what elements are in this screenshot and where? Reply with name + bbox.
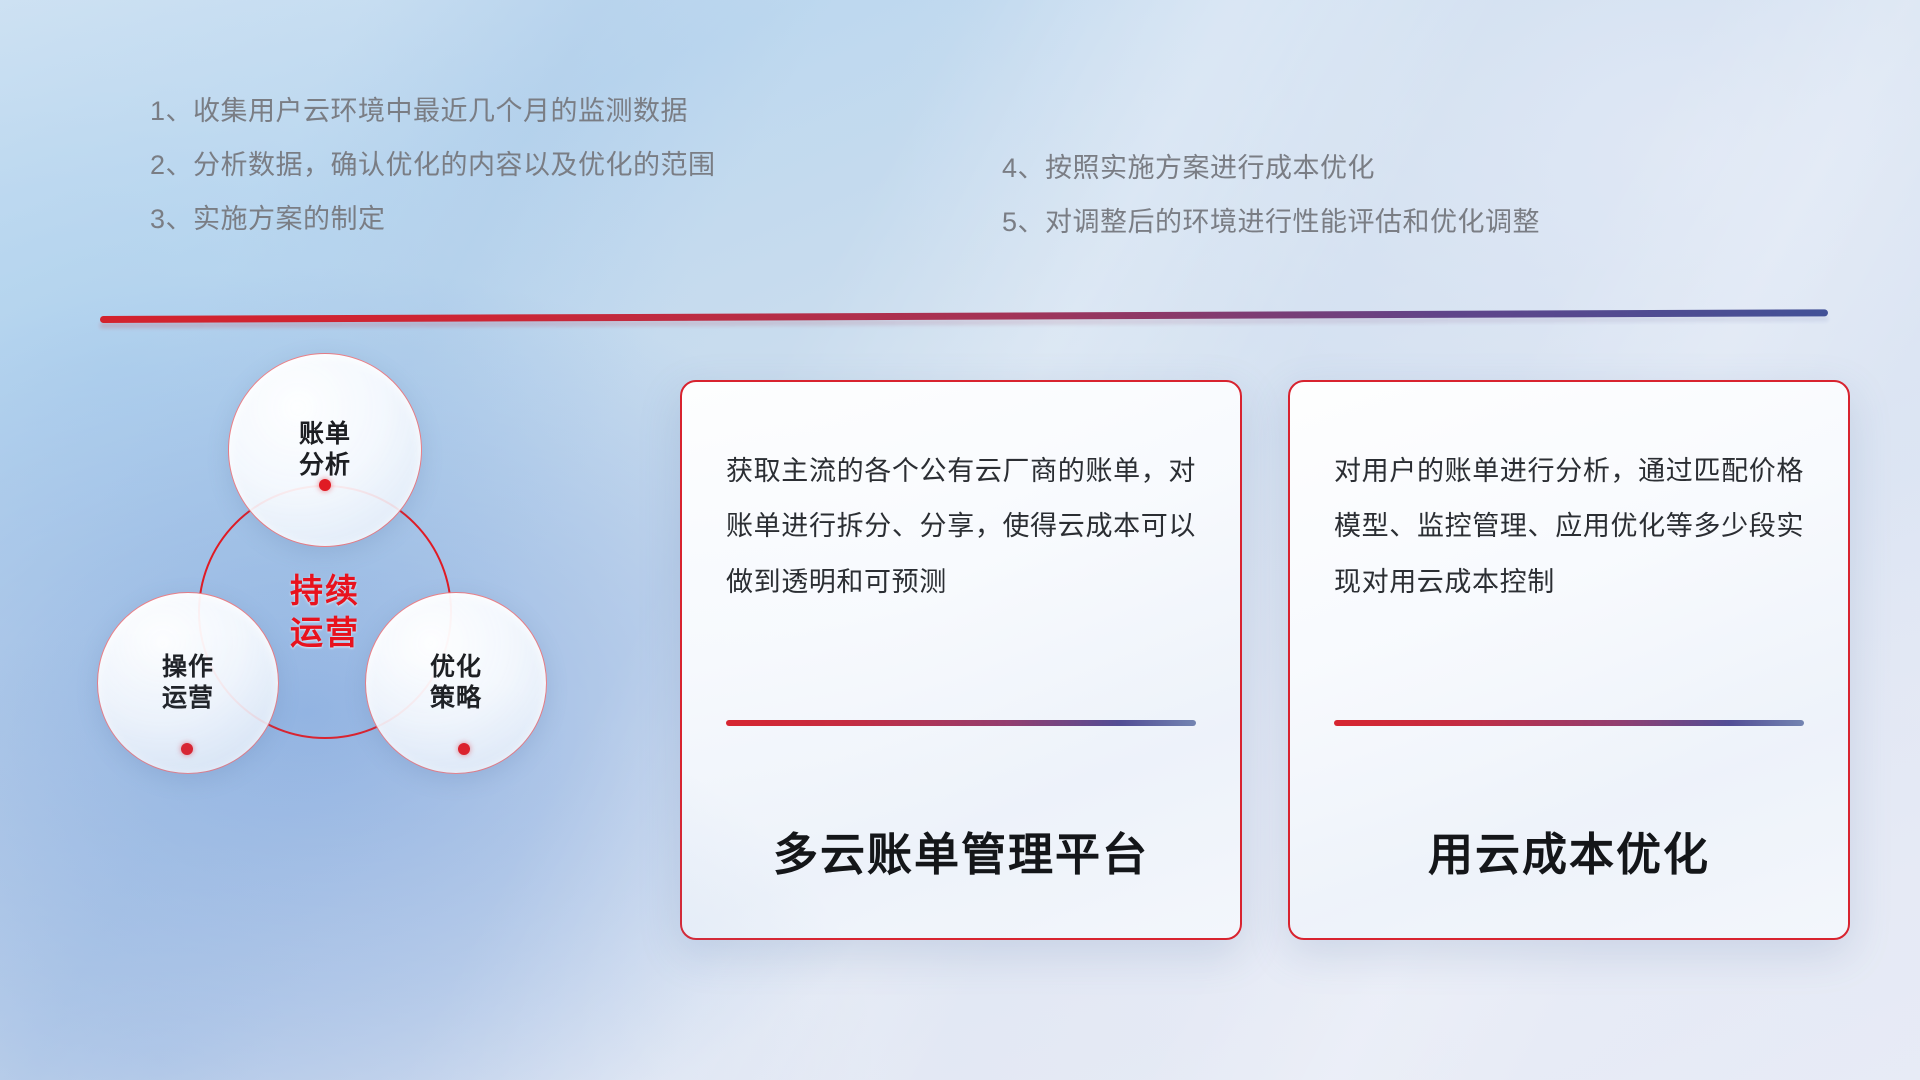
steps-list-left: 1、收集用户云环境中最近几个月的监测数据 2、分析数据，确认优化的内容以及优化的… xyxy=(150,98,716,233)
diagram-bubble-bill-analysis[interactable]: 账单 分析 xyxy=(228,353,422,547)
slide-canvas: 1、收集用户云环境中最近几个月的监测数据 2、分析数据，确认优化的内容以及优化的… xyxy=(0,0,1920,1080)
bubble-label-line-1: 优化 xyxy=(430,652,482,684)
section-divider xyxy=(100,309,1828,323)
card-title: 用云成本优化 xyxy=(1334,828,1804,882)
card-title: 多云账单管理平台 xyxy=(726,828,1196,882)
step-item-5: 5、对调整后的环境进行性能评估和优化调整 xyxy=(1002,209,1540,236)
bubble-label-line-1: 账单 xyxy=(299,419,351,451)
bubble-label-line-1: 操作 xyxy=(162,652,214,684)
steps-list-right: 4、按照实施方案进行成本优化 5、对调整后的环境进行性能评估和优化调整 xyxy=(1002,155,1540,236)
diagram-node-dot-left xyxy=(181,743,193,755)
step-item-2: 2、分析数据，确认优化的内容以及优化的范围 xyxy=(150,152,716,179)
diagram-node-dot-right xyxy=(458,743,470,755)
step-item-3: 3、实施方案的制定 xyxy=(150,206,716,233)
bubble-label-line-2: 运营 xyxy=(162,683,214,715)
center-label-line-1: 持续 xyxy=(290,570,360,612)
card-cloud-cost-optimization[interactable]: 对用户的账单进行分析，通过匹配价格模型、监控管理、应用优化等多少段实现对用云成本… xyxy=(1288,380,1850,940)
continuous-operation-diagram: 持续 运营 账单 分析 操作 运营 优化 策略 xyxy=(95,355,565,775)
card-accent-rule xyxy=(1334,720,1804,726)
card-multi-cloud-billing[interactable]: 获取主流的各个公有云厂商的账单，对账单进行拆分、分享，使得云成本可以做到透明和可… xyxy=(680,380,1242,940)
diagram-node-dot-top xyxy=(319,479,331,491)
center-label-line-2: 运营 xyxy=(290,612,360,654)
card-body-text: 获取主流的各个公有云厂商的账单，对账单进行拆分、分享，使得云成本可以做到透明和可… xyxy=(726,444,1196,694)
card-body-text: 对用户的账单进行分析，通过匹配价格模型、监控管理、应用优化等多少段实现对用云成本… xyxy=(1334,444,1804,694)
card-accent-rule xyxy=(726,720,1196,726)
diagram-bubble-optimization-strategy[interactable]: 优化 策略 xyxy=(365,592,547,774)
bubble-label-line-2: 策略 xyxy=(430,683,482,715)
bubble-label-line-2: 分析 xyxy=(299,450,351,482)
step-item-1: 1、收集用户云环境中最近几个月的监测数据 xyxy=(150,98,716,125)
step-item-4: 4、按照实施方案进行成本优化 xyxy=(1002,155,1540,182)
